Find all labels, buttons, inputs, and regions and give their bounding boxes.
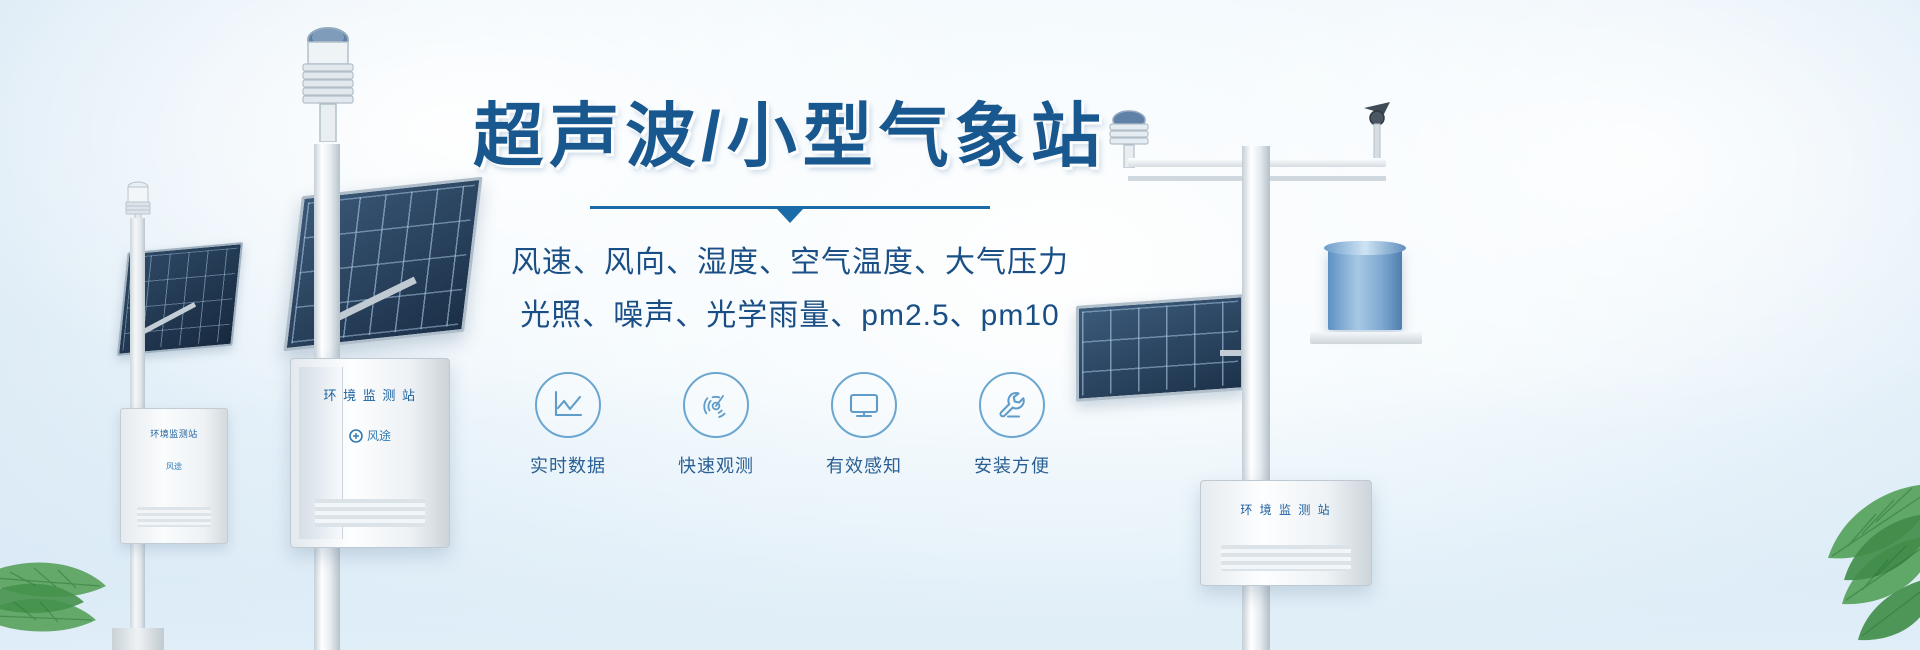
wind-vane-sensor-icon: [1360, 98, 1394, 164]
tropical-leaf-right-decoration: [1690, 410, 1920, 650]
divider-triangle-icon: [777, 209, 803, 223]
feature-label: 快速观测: [678, 452, 754, 478]
subtitle-line-2: 光照、噪声、光学雨量、pm2.5、pm10: [511, 290, 1069, 343]
cabinet-label: 环 境 监 测 站: [1240, 501, 1331, 518]
instrument-shelf: [1310, 332, 1422, 344]
ultrasonic-sensor-icon: [290, 24, 366, 142]
feature-label: 实时数据: [530, 452, 606, 478]
cabinet-brand: 风途: [349, 427, 391, 444]
subtitle-block: 风速、风向、湿度、空气温度、大气压力 光照、噪声、光学雨量、pm2.5、pm10: [511, 237, 1069, 342]
cabinet-label: 环境监测站: [150, 427, 198, 440]
feature-label: 有效感知: [826, 452, 902, 478]
brand-text: 风途: [367, 427, 391, 444]
feature-label: 安装方便: [974, 452, 1050, 478]
subtitle-line-1: 风速、风向、湿度、空气温度、大气压力: [511, 237, 1069, 290]
page-title: 超声波/小型气象站: [473, 96, 1106, 177]
banner-content: 超声波/小型气象站 风速、风向、湿度、空气温度、大气压力 光照、噪声、光学雨量、…: [440, 96, 1140, 496]
feature-item-realtime-data[interactable]: 实时数据: [513, 372, 623, 478]
feature-item-fast-observation[interactable]: 快速观测: [661, 372, 771, 478]
tropical-leaf-left-decoration: [0, 460, 180, 650]
control-cabinet: 环 境 监 测 站 风途: [290, 358, 450, 548]
radar-signal-icon: [683, 372, 749, 438]
control-cabinet: 环 境 监 测 站: [1200, 480, 1372, 586]
feature-list: 实时数据 快速观测: [513, 372, 1067, 478]
line-chart-icon: [535, 372, 601, 438]
cabinet-vent: [315, 499, 425, 527]
monitor-display-icon: [831, 372, 897, 438]
title-divider: [590, 203, 990, 229]
feature-item-easy-install[interactable]: 安装方便: [957, 372, 1067, 478]
cabinet-label: 环 境 监 测 站: [324, 385, 417, 404]
wrench-tool-icon: [979, 372, 1045, 438]
feature-item-effective-sensing[interactable]: 有效感知: [809, 372, 919, 478]
cabinet-vent: [1221, 545, 1351, 571]
optical-rain-gauge: [1328, 248, 1402, 330]
product-banner: 环境监测站 风途: [0, 0, 1920, 650]
brand-mark-icon: [349, 429, 363, 443]
